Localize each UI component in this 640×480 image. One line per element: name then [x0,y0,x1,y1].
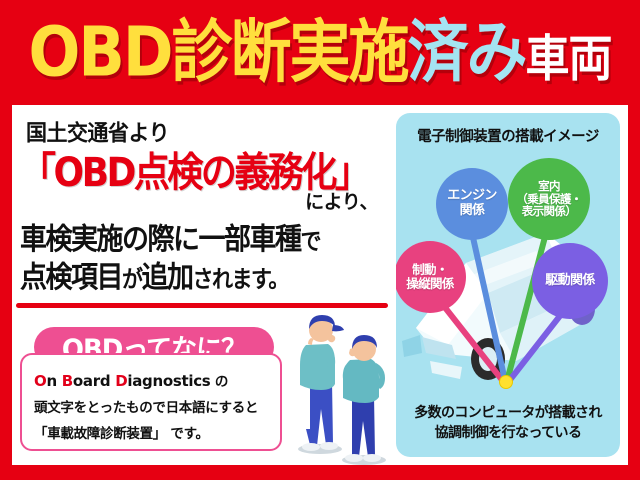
definition-line-2: 頭文字をとったもので日本語にすると [34,395,270,421]
content-panel: 国土交通省より 「OBD点検の義務化」 により、 車検実施の際に一部車種で 点検… [12,105,628,465]
node-engine-line1: エンジン [447,188,497,203]
body-line-2-main: 車検実施の際に一部車種 [20,223,301,257]
headline-sharyo: 車両 [526,31,612,88]
def-oard: oard [73,372,110,390]
def-cap-d: D [115,372,127,390]
node-engine-line2: 関係 [460,203,485,218]
diagram-footnote-line2: 協調制御を行なっている [435,425,582,441]
node-brake: 制動・ 操縦関係 [396,241,466,313]
def-no: の [215,374,228,390]
def-cap-o: O [34,372,46,390]
node-cabin-line3: 表示関係） [522,204,577,218]
body-line-2-tail: で [301,228,321,254]
body-line-3: 点検項目が追加されます。 [20,253,288,296]
node-cabin-label: 室内 （乗員保護・ 表示関係） [516,180,581,219]
diagram-footnote-line1: 多数のコンピュータが搭載され [414,405,602,421]
def-cap-b: B [62,372,73,390]
electronic-control-diagram: 電子制御装置の搭載イメージ [396,113,620,457]
definition-line-3: 「車載故障診断装置」 です。 [34,421,270,447]
node-brake-label: 制動・ 操縦関係 [406,263,454,291]
node-brake-line1: 制動・ [412,262,448,277]
def-n: n [46,372,56,390]
body-line-3-main: 点検項目 [20,261,122,295]
two-people-illustration [284,305,404,465]
header-banner: OBD診断実施済み車両 [0,0,640,105]
node-drive-line1: 駆動関係 [545,274,595,289]
body-line-3-mid: が [122,266,142,292]
node-brake-line2: 操縦関係 [406,276,454,291]
headline-shindan: 診断実施 [171,13,407,93]
def-iagnostics: iagnostics [127,372,210,390]
node-engine: エンジン 関係 [436,168,508,240]
headline-sumi: 済み [408,13,526,93]
node-engine-label: エンジン 関係 [447,189,497,218]
body-line-3-tail: されます。 [193,266,288,292]
niyori-text: により、 [305,187,378,214]
body-line-3-main2: 追加 [142,261,193,295]
headline-obd: OBD [28,13,171,93]
obd-definition-box: On Board Diagnostics の 頭文字をとったもので日本語にすると… [20,353,282,451]
central-computer-hub-icon [499,375,513,389]
definition-line-1: On Board Diagnostics の [34,368,270,395]
diagram-footnote: 多数のコンピュータが搭載され 協調制御を行なっている [396,403,620,443]
body-line-2: 車検実施の際に一部車種で [20,215,320,258]
node-drive: 駆動関係 [532,243,608,319]
headline: OBD診断実施済み車両 [28,18,611,86]
poster-root: OBD診断実施済み車両 国土交通省より 「OBD点検の義務化」 により、 車検実… [0,0,640,480]
left-column: 国土交通省より 「OBD点検の義務化」 により、 車検実施の際に一部車種で 点検… [12,105,392,465]
node-cabin: 室内 （乗員保護・ 表示関係） [508,158,590,240]
